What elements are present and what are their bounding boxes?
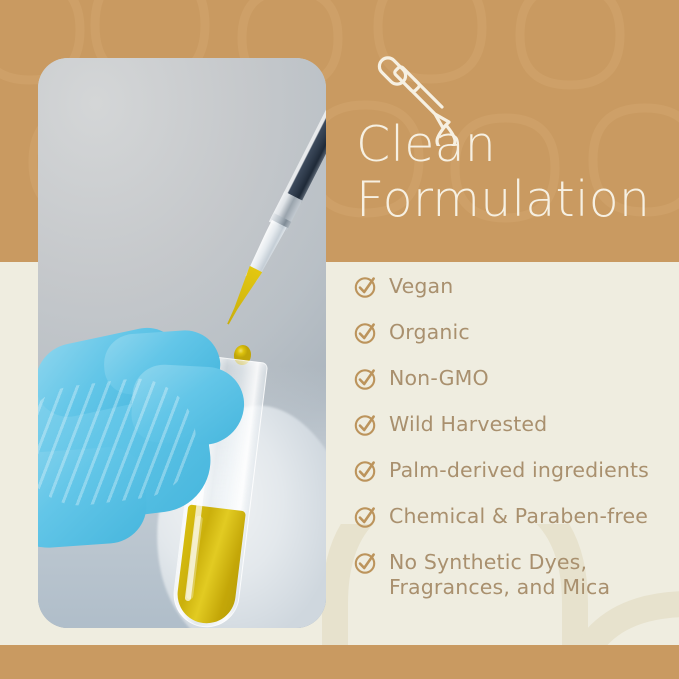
list-item: Chemical & Paraben-free xyxy=(354,504,679,529)
gloved-hand xyxy=(38,330,262,560)
list-item-label: Vegan xyxy=(389,274,453,299)
list-item: Vegan xyxy=(354,274,679,299)
check-circle-icon xyxy=(354,413,378,437)
list-item: Non-GMO xyxy=(354,366,679,391)
list-item-label: Organic xyxy=(389,320,470,345)
content-column: Clean Formulation Vegan Organic xyxy=(340,0,679,679)
title-line-2: Formulation xyxy=(356,173,676,228)
list-item-label: No Synthetic Dyes, Fragrances, and Mica xyxy=(389,550,610,600)
check-circle-icon xyxy=(354,367,378,391)
page-title: Clean Formulation xyxy=(356,118,676,228)
list-item-label: Palm-derived ingredients xyxy=(389,458,649,483)
feature-list: Vegan Organic Non-GMO xyxy=(354,274,679,621)
product-infographic: Clean Formulation Vegan Organic xyxy=(0,0,679,679)
list-item: No Synthetic Dyes, Fragrances, and Mica xyxy=(354,550,679,600)
list-item: Organic xyxy=(354,320,679,345)
list-item-label: Wild Harvested xyxy=(389,412,547,437)
list-item-label: Non-GMO xyxy=(389,366,489,391)
list-item: Wild Harvested xyxy=(354,412,679,437)
product-photo xyxy=(38,58,326,628)
check-circle-icon xyxy=(354,459,378,483)
check-circle-icon xyxy=(354,321,378,345)
title-line-1: Clean xyxy=(356,118,676,173)
list-item-label: Chemical & Paraben-free xyxy=(389,504,648,529)
list-item: Palm-derived ingredients xyxy=(354,458,679,483)
check-circle-icon xyxy=(354,505,378,529)
check-circle-icon xyxy=(354,551,378,575)
check-circle-icon xyxy=(354,275,378,299)
